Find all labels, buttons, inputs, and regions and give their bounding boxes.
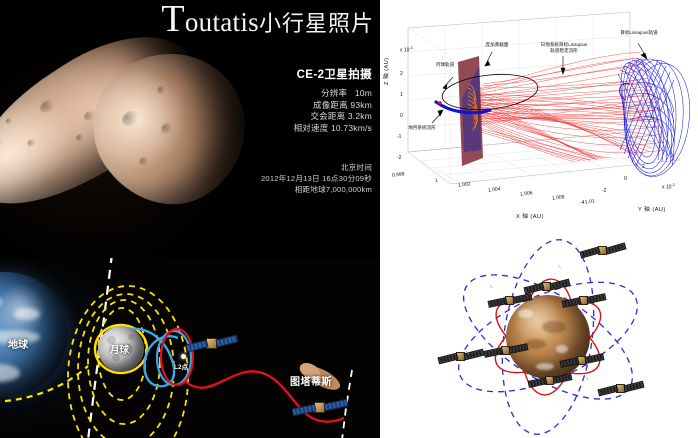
subtitle: CE-2卫星拍摄	[297, 66, 372, 82]
manifold-3d-plot-panel: 月球轨道 庞加莱截面 日地系统目标Lissajous 轨道稳定流形 目标Liss…	[380, 0, 698, 230]
y-tick: 0	[624, 176, 627, 182]
z-tick: -1	[397, 134, 401, 140]
annotation-poincare-section: 庞加莱截面	[475, 42, 519, 48]
satellite	[598, 380, 642, 396]
manifold-start-marker	[438, 101, 442, 105]
spec-row: 交会距离 3.2km	[294, 111, 372, 123]
z-exponent-power: -3	[409, 46, 412, 50]
z-tick: 2	[400, 71, 403, 77]
toutatis-photo-panel: Toutatis小行星照片 CE-2卫星拍摄 分辨率 10m 成像距离 93km…	[0, 0, 380, 258]
y-tick: -2	[602, 188, 606, 194]
annotation-em-manifold: 地月系统流形	[400, 125, 444, 131]
spec-value: 10m	[355, 88, 372, 98]
y-axis-label: Y 轴 (AU)	[638, 205, 666, 213]
z-tick: -2	[397, 155, 401, 161]
satellite	[488, 292, 530, 308]
z-axis-exponent: x 10-3	[400, 46, 413, 54]
page-title: Toutatis小行星照片	[130, 2, 374, 42]
spec-label: 相对速度	[294, 123, 329, 133]
satellite	[580, 242, 624, 258]
spec-value: 93km	[350, 100, 372, 110]
earth-moon-transfer-panel: 地球	[0, 258, 380, 438]
mars-constellation-panel: ◟	[380, 230, 698, 438]
y-tick: -4	[580, 200, 584, 206]
spec-row: 分辨率 10m	[294, 88, 372, 100]
z-axis-label: Z 轴 (AU)	[382, 25, 390, 85]
satellite	[560, 352, 602, 368]
antenna-icon: ◟	[586, 372, 589, 381]
spec-value: 10.73km/s	[331, 123, 372, 133]
spec-label: 交会距离	[310, 111, 345, 121]
spec-row: 成像距离 93km	[294, 100, 372, 112]
annotation-stable-manifold: 日地系统目标Lissajous 轨道稳定流形	[535, 42, 593, 53]
earth-departure-arc	[0, 366, 88, 402]
spec-label: 分辨率	[321, 88, 347, 98]
spec-list: 分辨率 10m 成像距离 93km 交会距离 3.2km 相对速度 10.73k…	[294, 88, 372, 134]
earth-distance: 相距地球7,000,000km	[261, 184, 372, 195]
poster-stage: Toutatis小行星照片 CE-2卫星拍摄 分辨率 10m 成像距离 93km…	[0, 0, 698, 438]
title-dropcap: T	[161, 0, 185, 40]
x-axis-label: X 轴 (AU)	[516, 212, 544, 220]
antenna-icon: ◟	[558, 260, 561, 269]
timestamp-value: 2012年12月13日 16点30分09秒	[261, 173, 372, 184]
spacecraft-at-toutatis	[292, 398, 346, 416]
title-chinese: 小行星照片	[259, 12, 374, 37]
spec-label: 成像距离	[313, 100, 348, 110]
antenna-icon: ◟	[490, 280, 493, 289]
y-exponent-power: -3	[671, 183, 674, 187]
capture-info: 北京时间 2012年12月13日 16点30分09秒 相距地球7,000,000…	[261, 162, 372, 195]
l2-point-marker	[181, 354, 186, 359]
spacecraft-at-l2	[186, 334, 236, 352]
title-rest: outatis	[185, 7, 259, 37]
spec-value: 3.2km	[348, 111, 372, 121]
satellite	[528, 372, 570, 388]
satellite	[562, 292, 604, 308]
satellite	[438, 348, 482, 364]
timestamp-label: 北京时间	[261, 162, 372, 173]
target-lissajous-blue	[614, 58, 696, 181]
y-axis-exponent: x 10-3	[662, 183, 675, 191]
z-tick: 1	[400, 92, 403, 98]
x-tick: 1	[435, 178, 439, 184]
label-moon: 月球	[110, 342, 129, 356]
label-l2-point: L2点	[174, 361, 188, 371]
annotation-target-lissajous: 目标Lissajous轨道	[608, 30, 670, 36]
y-tick: 2	[642, 164, 645, 170]
satellite	[484, 342, 526, 358]
label-toutatis: 图塔蒂斯	[290, 373, 332, 388]
antenna-icon: ◟	[466, 346, 469, 355]
annotation-moon-orbit: 月球轨道	[428, 62, 462, 68]
z-tick: 0	[400, 113, 403, 119]
spec-row: 相对速度 10.73km/s	[294, 123, 372, 135]
